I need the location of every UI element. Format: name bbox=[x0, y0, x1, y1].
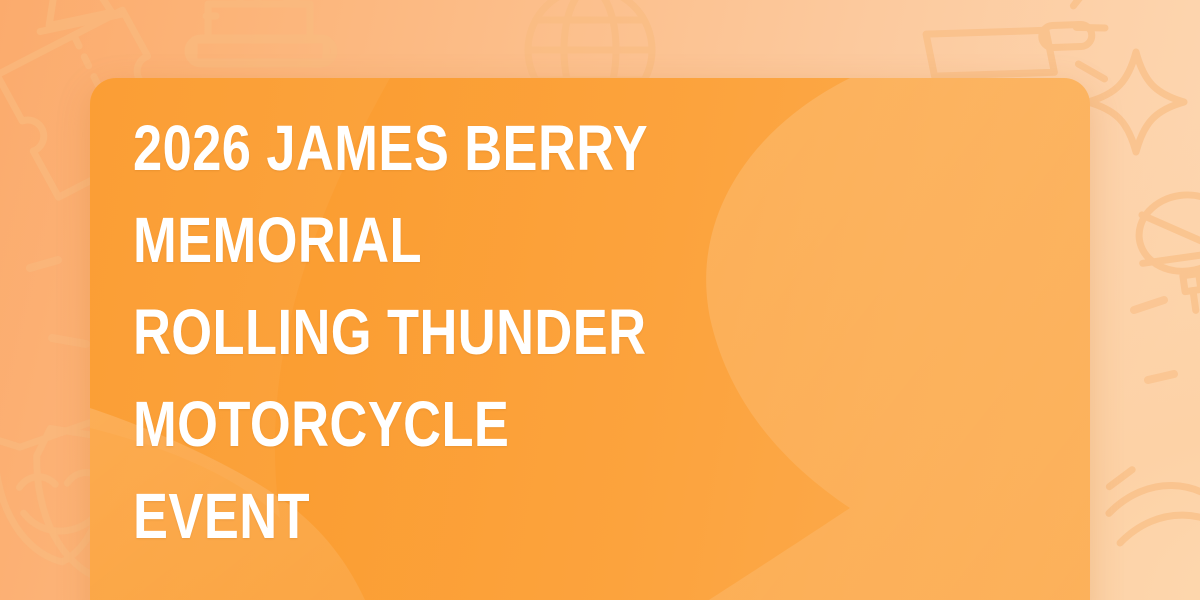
streamer-icon bbox=[1097, 465, 1200, 570]
cake-icon bbox=[188, 0, 334, 64]
card-content: 2026 James Berry Memorial Rolling Thunde… bbox=[133, 102, 1050, 600]
event-date: Sun, 24 May, 2026 at 11:00 AM bbox=[133, 562, 903, 600]
sparkle-icon bbox=[1088, 52, 1184, 152]
party-hat-icon bbox=[19, 0, 123, 32]
event-banner: 2026 James Berry Memorial Rolling Thunde… bbox=[0, 0, 1200, 600]
event-card: 2026 James Berry Memorial Rolling Thunde… bbox=[90, 78, 1090, 600]
page-title: 2026 James Berry Memorial Rolling Thunde… bbox=[133, 102, 885, 562]
